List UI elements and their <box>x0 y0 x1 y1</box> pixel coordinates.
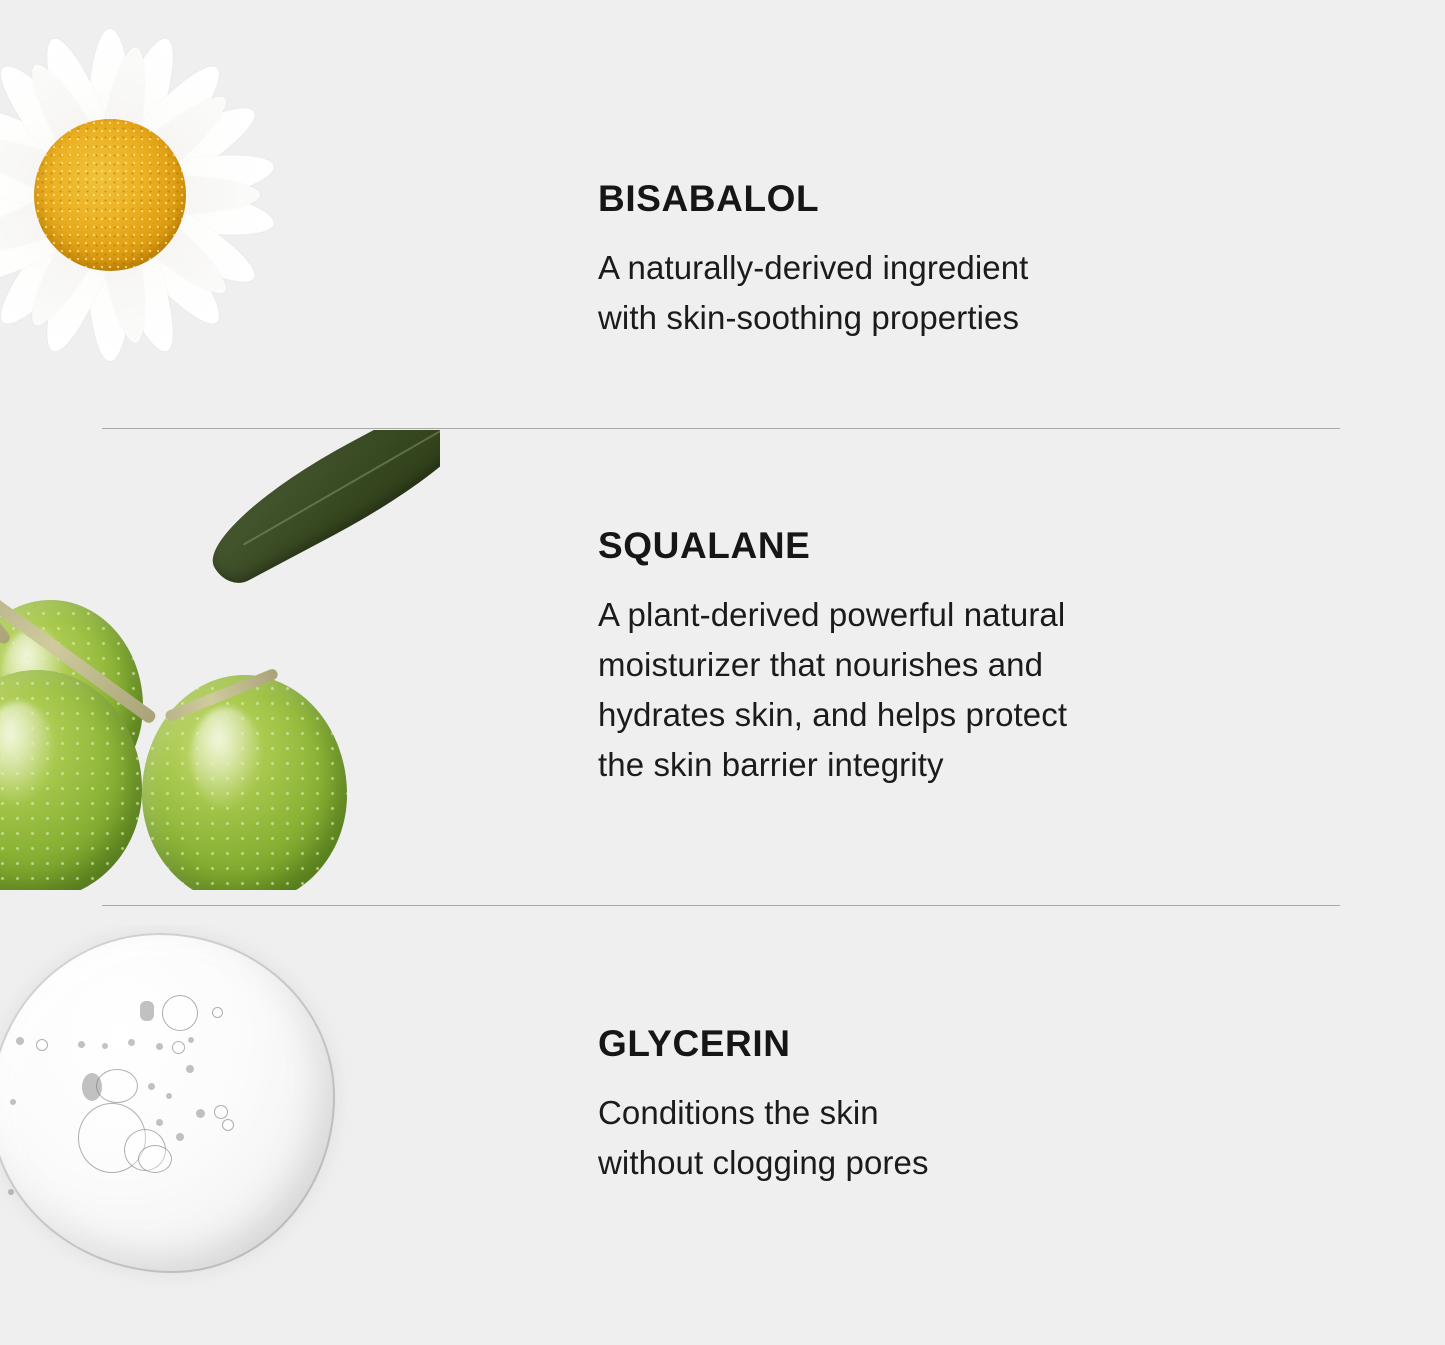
ingredient-benefits-panel: BISABALOL A naturally-derived ingredient… <box>0 0 1445 1345</box>
gel-bubble <box>222 1119 234 1131</box>
ingredient-description-glycerin: Conditions the skin without clogging por… <box>598 1088 929 1188</box>
gel-bubble <box>186 1065 194 1073</box>
gel-bubble <box>196 1109 205 1118</box>
description-line: A naturally-derived ingredient <box>598 243 1028 293</box>
gel-bubble <box>10 1099 16 1105</box>
olive-fruit <box>142 675 347 890</box>
section-squalane: SQUALANE A plant-derived powerful natura… <box>598 527 1067 790</box>
gel-bubble <box>214 1105 228 1119</box>
gel-bubble <box>96 1069 138 1103</box>
description-line: Conditions the skin <box>598 1088 929 1138</box>
gel-bubble <box>8 1189 14 1195</box>
section-divider <box>102 905 1340 906</box>
gel-bubble <box>78 1041 85 1048</box>
gel-bubble <box>188 1037 194 1043</box>
gel-bubble <box>128 1039 135 1046</box>
section-glycerin: GLYCERIN Conditions the skin without clo… <box>598 1025 929 1188</box>
glycerin-gel-droplet-image <box>0 925 400 1345</box>
gel-bubble <box>102 1043 108 1049</box>
ingredient-description-bisabalol: A naturally-derived ingredient with skin… <box>598 243 1028 343</box>
description-line: A plant-derived powerful natural <box>598 590 1067 640</box>
gel-bubble <box>16 1037 24 1045</box>
description-line: hydrates skin, and helps protect <box>598 690 1067 740</box>
olive-highlight <box>0 702 54 803</box>
daisy-graphic <box>0 0 370 420</box>
ingredient-name-squalane: SQUALANE <box>598 527 1067 564</box>
gel-droplet <box>0 933 335 1273</box>
ingredient-name-bisabalol: BISABALOL <box>598 180 1028 217</box>
gel-bubble <box>156 1119 163 1126</box>
ingredient-name-glycerin: GLYCERIN <box>598 1025 929 1062</box>
gel-bubble <box>82 1073 102 1101</box>
daisy-flower-image <box>0 0 370 420</box>
description-line: without clogging pores <box>598 1138 929 1188</box>
description-line: the skin barrier integrity <box>598 740 1067 790</box>
ingredient-description-squalane: A plant-derived powerful natural moistur… <box>598 590 1067 790</box>
gel-bubble <box>36 1039 48 1051</box>
gel-bubble <box>156 1043 163 1050</box>
section-bisabalol: BISABALOL A naturally-derived ingredient… <box>598 180 1028 343</box>
gel-bubble <box>172 1041 185 1054</box>
gel-bubble <box>176 1133 184 1141</box>
olive-highlight <box>191 707 261 808</box>
description-line: moisturizer that nourishes and <box>598 640 1067 690</box>
gel-bubble <box>212 1007 223 1018</box>
daisy-center-disc <box>34 119 186 271</box>
gel-bubble <box>162 995 198 1031</box>
gel-bubble <box>140 1001 154 1021</box>
gel-bubble <box>148 1083 155 1090</box>
gel-bubble <box>166 1093 172 1099</box>
gel-bubble <box>138 1145 172 1173</box>
olive-leaf <box>193 430 440 592</box>
section-divider <box>102 428 1340 429</box>
description-line: with skin-soothing properties <box>598 293 1028 343</box>
olive-branch-image <box>0 430 440 890</box>
